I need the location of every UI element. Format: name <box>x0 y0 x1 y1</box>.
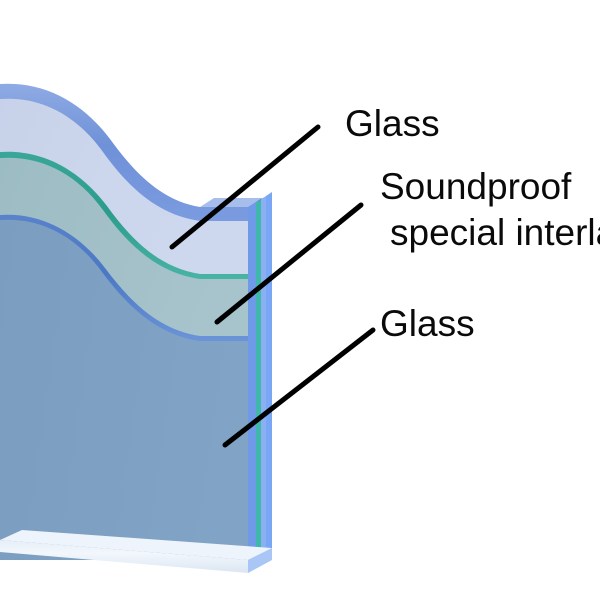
slab-side-edge <box>248 192 272 573</box>
glass-cross-section-illustration: Glass Soundproof special interlayer Glas… <box>0 0 600 600</box>
label-interlayer-line1: Soundproof <box>380 166 572 207</box>
label-glass-bottom: Glass <box>380 303 475 344</box>
edge-stripe-blue-outer <box>266 192 272 563</box>
label-glass-top: Glass <box>345 103 440 144</box>
labels: Glass Soundproof special interlayer Glas… <box>345 103 600 344</box>
label-interlayer-line2: special interlayer <box>390 212 600 253</box>
diagram-root: Glass Soundproof special interlayer Glas… <box>0 0 600 600</box>
